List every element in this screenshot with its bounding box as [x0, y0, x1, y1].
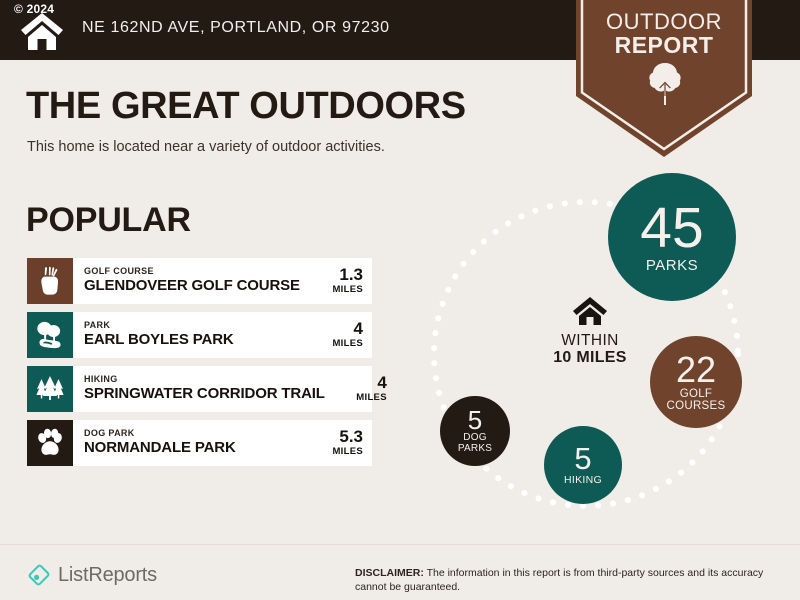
- stat-bubble-hiking[interactable]: 5 HIKING: [544, 426, 622, 504]
- page-title: THE GREAT OUTDOORS: [26, 85, 466, 128]
- poi-distance-unit: MILES: [332, 284, 363, 295]
- poi-distance-unit: MILES: [356, 392, 387, 403]
- poi-icon-tile: [27, 420, 73, 466]
- list-item[interactable]: HIKING SPRINGWATER CORRIDOR TRAIL 4 MILE…: [27, 366, 372, 412]
- outdoor-report-badge: OUTDOOR REPORT: [576, 0, 752, 158]
- copyright-label: © 2024: [14, 2, 54, 16]
- poi-text: HIKING SPRINGWATER CORRIDOR TRAIL: [73, 366, 325, 412]
- center-line-1: WITHIN: [510, 332, 670, 349]
- disclaimer-label: DISCLAIMER:: [355, 567, 424, 579]
- stat-label-line-2: COURSES: [667, 400, 726, 412]
- list-item[interactable]: PARK EARL BOYLES PARK 4 MILES: [27, 312, 372, 358]
- poi-distance-unit: MILES: [332, 446, 363, 457]
- list-item[interactable]: DOG PARK NORMANDALE PARK 5.3 MILES: [27, 420, 372, 466]
- poi-distance-value: 4: [354, 320, 363, 338]
- paw-print-icon: [35, 428, 65, 458]
- poi-text: DOG PARK NORMANDALE PARK: [73, 420, 301, 466]
- poi-category: DOG PARK: [84, 429, 301, 439]
- badge-shield-shape: [576, 0, 752, 158]
- poi-distance: 4 MILES: [301, 312, 372, 358]
- poi-name: NORMANDALE PARK: [84, 439, 301, 456]
- poi-distance-unit: MILES: [332, 338, 363, 349]
- poi-icon-tile: [27, 366, 73, 412]
- center-line-2: 10 MILES: [510, 349, 670, 367]
- stat-value: 22: [676, 352, 716, 387]
- stat-label-line-1: GOLF: [680, 388, 713, 400]
- poi-text: GOLF COURSE GLENDOVEER GOLF COURSE: [73, 258, 301, 304]
- stat-value: 5: [468, 408, 482, 433]
- stat-bubble-dog-parks[interactable]: 5 DOG PARKS: [440, 396, 510, 466]
- stat-label: HIKING: [564, 475, 602, 486]
- stat-label-line-1: DOG: [463, 432, 486, 443]
- poi-distance: 1.3 MILES: [301, 258, 372, 304]
- poi-distance: 4 MILES: [325, 366, 396, 412]
- house-icon: [572, 296, 608, 326]
- poi-distance-value: 4: [377, 374, 386, 392]
- stat-label-line-2: PARKS: [458, 443, 492, 454]
- listreports-brand[interactable]: ListReports: [27, 563, 157, 587]
- outdoor-report-page: © 2024 NE 162ND AVE, PORTLAND, OR 97230 …: [0, 0, 800, 600]
- pine-trees-icon: [34, 375, 66, 403]
- infographic-center: WITHIN 10 MILES: [510, 296, 670, 367]
- poi-distance-value: 1.3: [339, 266, 363, 284]
- park-trees-icon: [34, 320, 66, 350]
- poi-text: PARK EARL BOYLES PARK: [73, 312, 301, 358]
- stat-bubble-parks[interactable]: 45 PARKS: [608, 173, 736, 301]
- poi-icon-tile: [27, 258, 73, 304]
- poi-distance-value: 5.3: [339, 428, 363, 446]
- poi-name: GLENDOVEER GOLF COURSE: [84, 277, 301, 294]
- footer-divider: [0, 544, 800, 545]
- page-subtitle: This home is located near a variety of o…: [27, 139, 385, 155]
- poi-category: GOLF COURSE: [84, 267, 301, 277]
- disclaimer: DISCLAIMER: The information in this repo…: [355, 566, 785, 595]
- stat-label: DOG PARKS: [458, 433, 492, 454]
- brand-name: ListReports: [58, 564, 157, 587]
- poi-name: SPRINGWATER CORRIDOR TRAIL: [84, 385, 325, 402]
- property-address: NE 162ND AVE, PORTLAND, OR 97230: [82, 19, 390, 37]
- stat-label: GOLF COURSES: [667, 388, 726, 412]
- list-item[interactable]: GOLF COURSE GLENDOVEER GOLF COURSE 1.3 M…: [27, 258, 372, 304]
- amenities-bubble-chart: 45 PARKS 22 GOLF COURSES 5 HIKING 5 DOG …: [420, 168, 800, 534]
- stat-value: 5: [574, 444, 591, 474]
- listreports-logo-icon: [27, 563, 51, 587]
- popular-section-heading: POPULAR: [26, 201, 191, 240]
- poi-distance: 5.3 MILES: [301, 420, 372, 466]
- golf-bag-icon: [35, 266, 65, 296]
- stat-label: PARKS: [646, 258, 698, 274]
- poi-category: HIKING: [84, 375, 325, 385]
- popular-list: GOLF COURSE GLENDOVEER GOLF COURSE 1.3 M…: [27, 258, 372, 474]
- poi-name: EARL BOYLES PARK: [84, 331, 301, 348]
- poi-icon-tile: [27, 312, 73, 358]
- stat-value: 45: [640, 201, 703, 257]
- poi-category: PARK: [84, 321, 301, 331]
